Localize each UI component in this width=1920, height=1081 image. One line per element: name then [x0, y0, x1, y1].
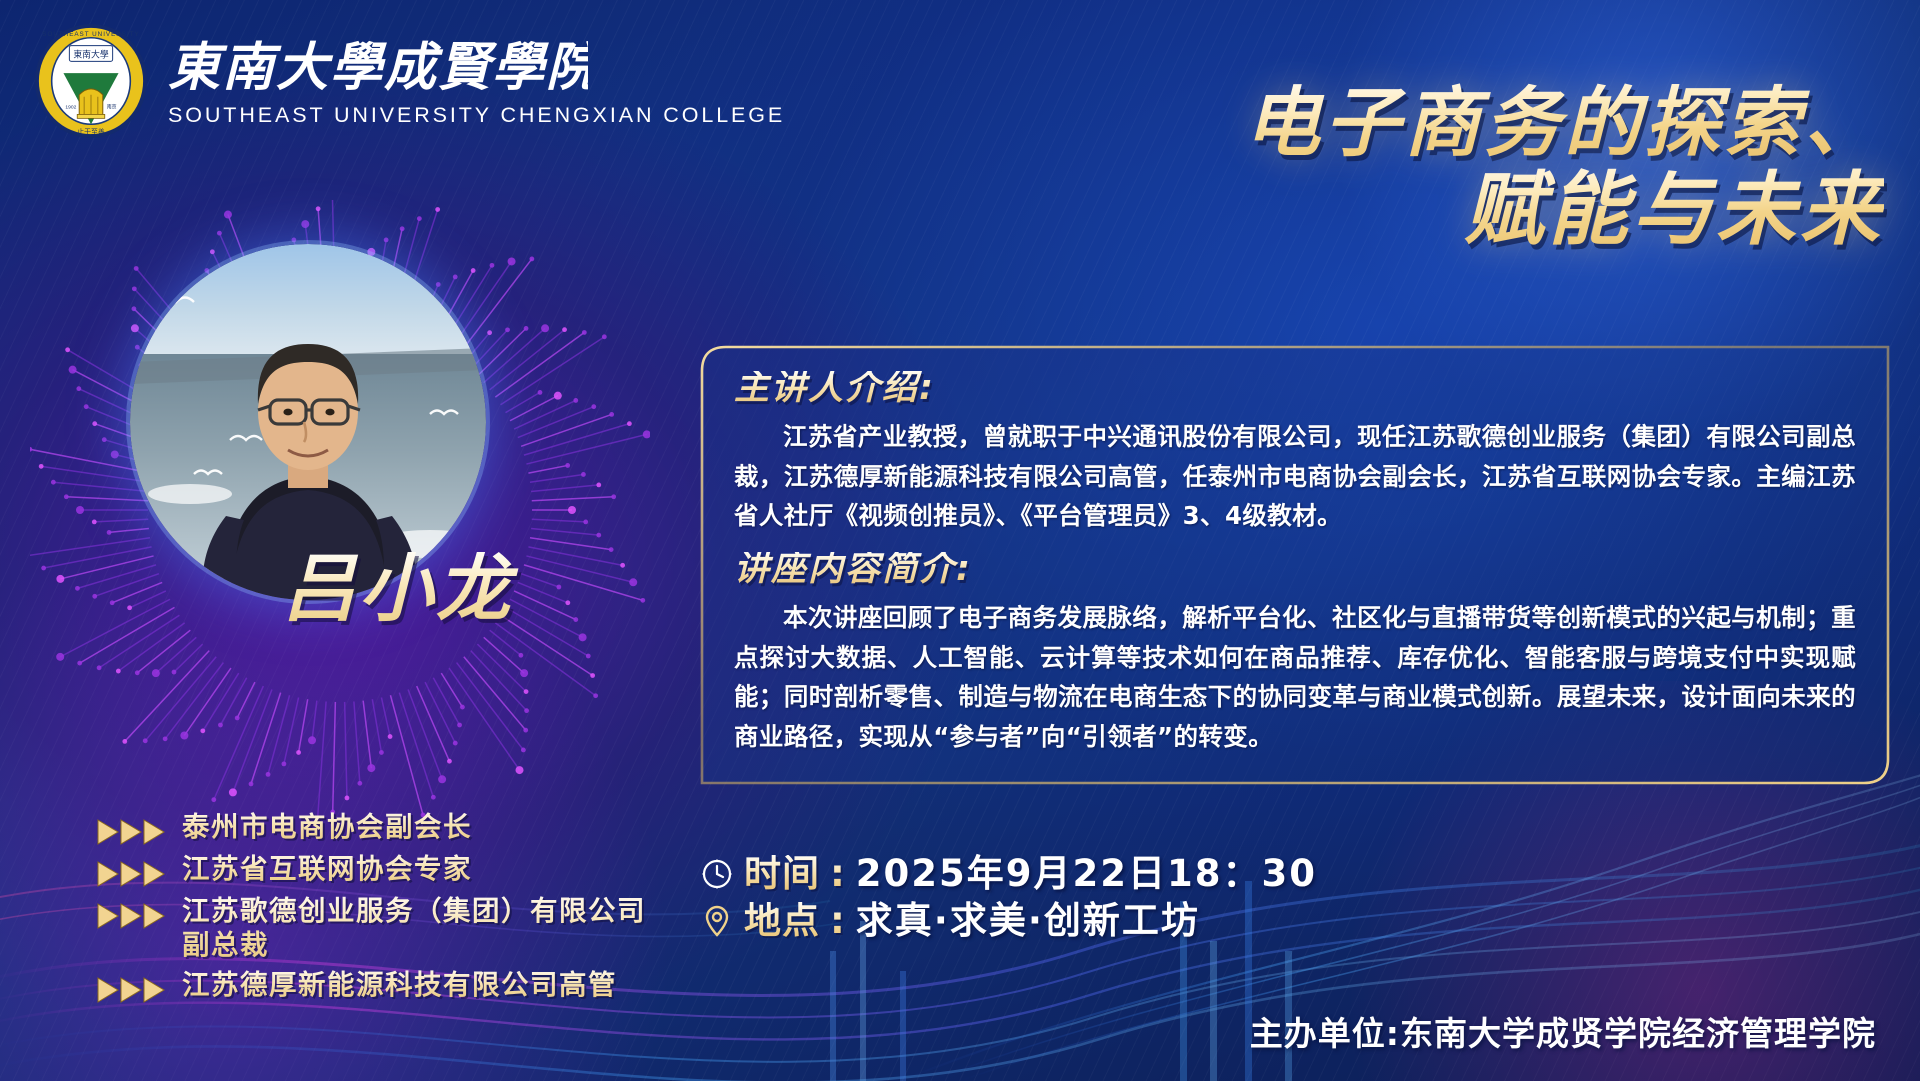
location-pin-icon [700, 904, 734, 938]
event-meta: 时间 : 2025年9月22日18：30 地点 : 求真·求美·创新工坊 [700, 855, 1317, 949]
event-place-label: 地点 [744, 902, 820, 939]
svg-text:SOUTHEAST UNIVERSITY: SOUTHEAST UNIVERSITY [42, 31, 139, 38]
event-time-row: 时间 : 2025年9月22日18：30 [700, 855, 1317, 892]
svg-text:南京: 南京 [107, 104, 117, 111]
list-item-label: 泰州市电商协会副会长 [182, 810, 472, 844]
event-time-label: 时间 [744, 855, 820, 892]
university-seal-icon: 東南大學 SOUTHEAST UNIVERSITY 止于至善 1902 南京 [32, 22, 150, 140]
svg-text:止于至善: 止于至善 [77, 127, 105, 136]
speaker-intro-body: 江苏省产业教授，曾就职于中兴通讯股份有限公司，现任江苏歌德创业服务（集团）有限公… [734, 417, 1856, 536]
brand-name-cn: 東南大學成賢學院 [168, 35, 588, 99]
title-line-1: 电子商务的探索、 [1244, 80, 1884, 165]
event-time-separator: : [830, 855, 846, 892]
lecture-content-heading: 讲座内容简介: [734, 552, 1856, 587]
brand-name-en: SOUTHEAST UNIVERSITY CHENGXIAN COLLEGE [168, 103, 785, 128]
clock-icon [700, 857, 734, 891]
list-item: 江苏歌德创业服务（集团）有限公司副总裁 [96, 894, 666, 963]
poster-title: 电子商务的探索、 赋能与未来 [1244, 80, 1884, 255]
list-item: 泰州市电商协会副会长 [96, 810, 666, 847]
lecture-content-body: 本次讲座回顾了电子商务发展脉络，解析平台化、社区化与直播带货等创新模式的兴起与机… [734, 598, 1856, 757]
list-item-label: 江苏省互联网协会专家 [182, 852, 472, 886]
event-place-row: 地点 : 求真·求美·创新工坊 [700, 902, 1317, 939]
svg-text:1902: 1902 [65, 105, 76, 111]
triple-chevron-right-icon [96, 859, 170, 889]
event-time-value: 2025年9月22日18：30 [856, 855, 1317, 892]
speaker-credentials-list: 泰州市电商协会副会长 江苏省互联网协会专家 江苏歌德创业服务（集团）有限公司副总… [96, 810, 666, 1010]
list-item: 江苏省互联网协会专家 [96, 852, 666, 889]
list-item-label: 江苏歌德创业服务（集团）有限公司副总裁 [182, 894, 666, 963]
svg-text:東南大學: 東南大學 [73, 48, 109, 60]
list-item: 江苏德厚新能源科技有限公司高管 [96, 968, 666, 1005]
triple-chevron-right-icon [96, 817, 170, 847]
list-item-label: 江苏德厚新能源科技有限公司高管 [182, 968, 617, 1002]
brand-name-cn-text: 東南大學成賢學院 [168, 38, 588, 98]
event-place-separator: : [830, 902, 846, 939]
triple-chevron-right-icon [96, 975, 170, 1005]
speaker-name: 吕小龙 [282, 552, 602, 626]
triple-chevron-right-icon [96, 901, 170, 931]
info-panel: 主讲人介绍: 江苏省产业教授，曾就职于中兴通讯股份有限公司，现任江苏歌德创业服务… [700, 345, 1890, 785]
brand-lockup: 東南大學 SOUTHEAST UNIVERSITY 止于至善 1902 南京 東… [32, 22, 785, 140]
brand-text-block: 東南大學成賢學院 SOUTHEAST UNIVERSITY CHENGXIAN … [168, 35, 785, 128]
organizer-footer: 主办单位:东南大学成贤学院经济管理学院 [1250, 1007, 1876, 1055]
speaker-intro-heading: 主讲人介绍: [734, 371, 1856, 406]
lecture-poster: 東南大學 SOUTHEAST UNIVERSITY 止于至善 1902 南京 東… [0, 0, 1920, 1081]
event-place-value: 求真·求美·创新工坊 [856, 902, 1200, 939]
title-line-2: 赋能与未来 [1244, 165, 1884, 255]
info-panel-content: 主讲人介绍: 江苏省产业教授，曾就职于中兴通讯股份有限公司，现任江苏歌德创业服务… [700, 345, 1890, 785]
